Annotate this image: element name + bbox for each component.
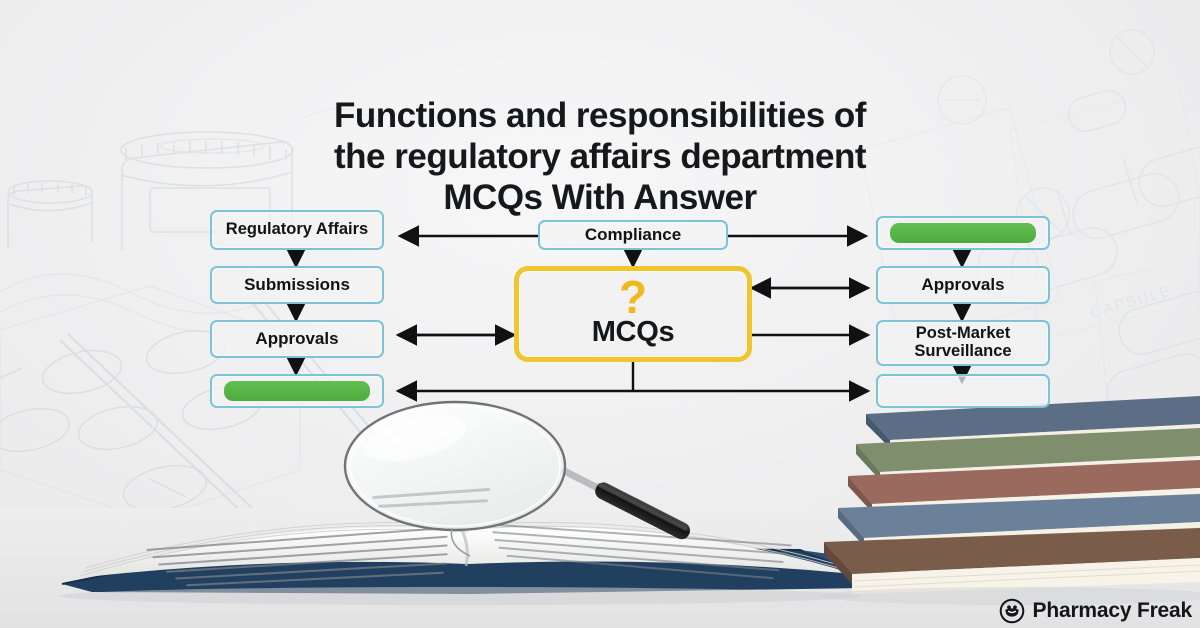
flow-node-submissions[interactable]: Submissions — [210, 266, 384, 304]
flow-node-compliance[interactable]: Compliance — [538, 220, 728, 250]
answer-highlight-bar — [890, 223, 1036, 243]
flow-node-post-market-surveillance[interactable]: Post-Market Surveillance — [876, 320, 1050, 366]
question-mark-icon: ? — [619, 278, 647, 318]
poster-canvas: CAPSULE — [0, 0, 1200, 628]
flow-node-approvals-left-label: Approvals — [255, 330, 338, 348]
flow-node-post-market-surveillance-label: Post-Market Surveillance — [882, 325, 1044, 361]
flow-node-mcqs-label: MCQs — [592, 317, 675, 348]
flow-node-submissions-label: Submissions — [244, 276, 350, 294]
flow-node-blank-right[interactable] — [876, 374, 1050, 408]
flow-node-answer-right[interactable] — [876, 216, 1050, 250]
flow-node-approvals-right-label: Approvals — [921, 276, 1004, 294]
brand-name: Pharmacy Freak — [1033, 599, 1192, 623]
flow-node-mcqs[interactable]: ? MCQs — [514, 266, 752, 362]
mortar-pestle-circle-icon — [999, 598, 1025, 624]
flow-node-approvals-right[interactable]: Approvals — [876, 266, 1050, 304]
flow-node-regulatory-affairs[interactable]: Regulatory Affairs — [210, 210, 384, 250]
brand-watermark[interactable]: Pharmacy Freak — [999, 598, 1192, 624]
flow-node-approvals-left[interactable]: Approvals — [210, 320, 384, 358]
flow-node-answer-left[interactable] — [210, 374, 384, 408]
flow-node-regulatory-affairs-label: Regulatory Affairs — [226, 221, 368, 239]
flow-node-compliance-label: Compliance — [585, 226, 681, 244]
answer-highlight-bar — [224, 381, 370, 401]
flowchart-nodes: Compliance ? MCQs Regulatory Affairs Sub… — [0, 0, 1200, 628]
